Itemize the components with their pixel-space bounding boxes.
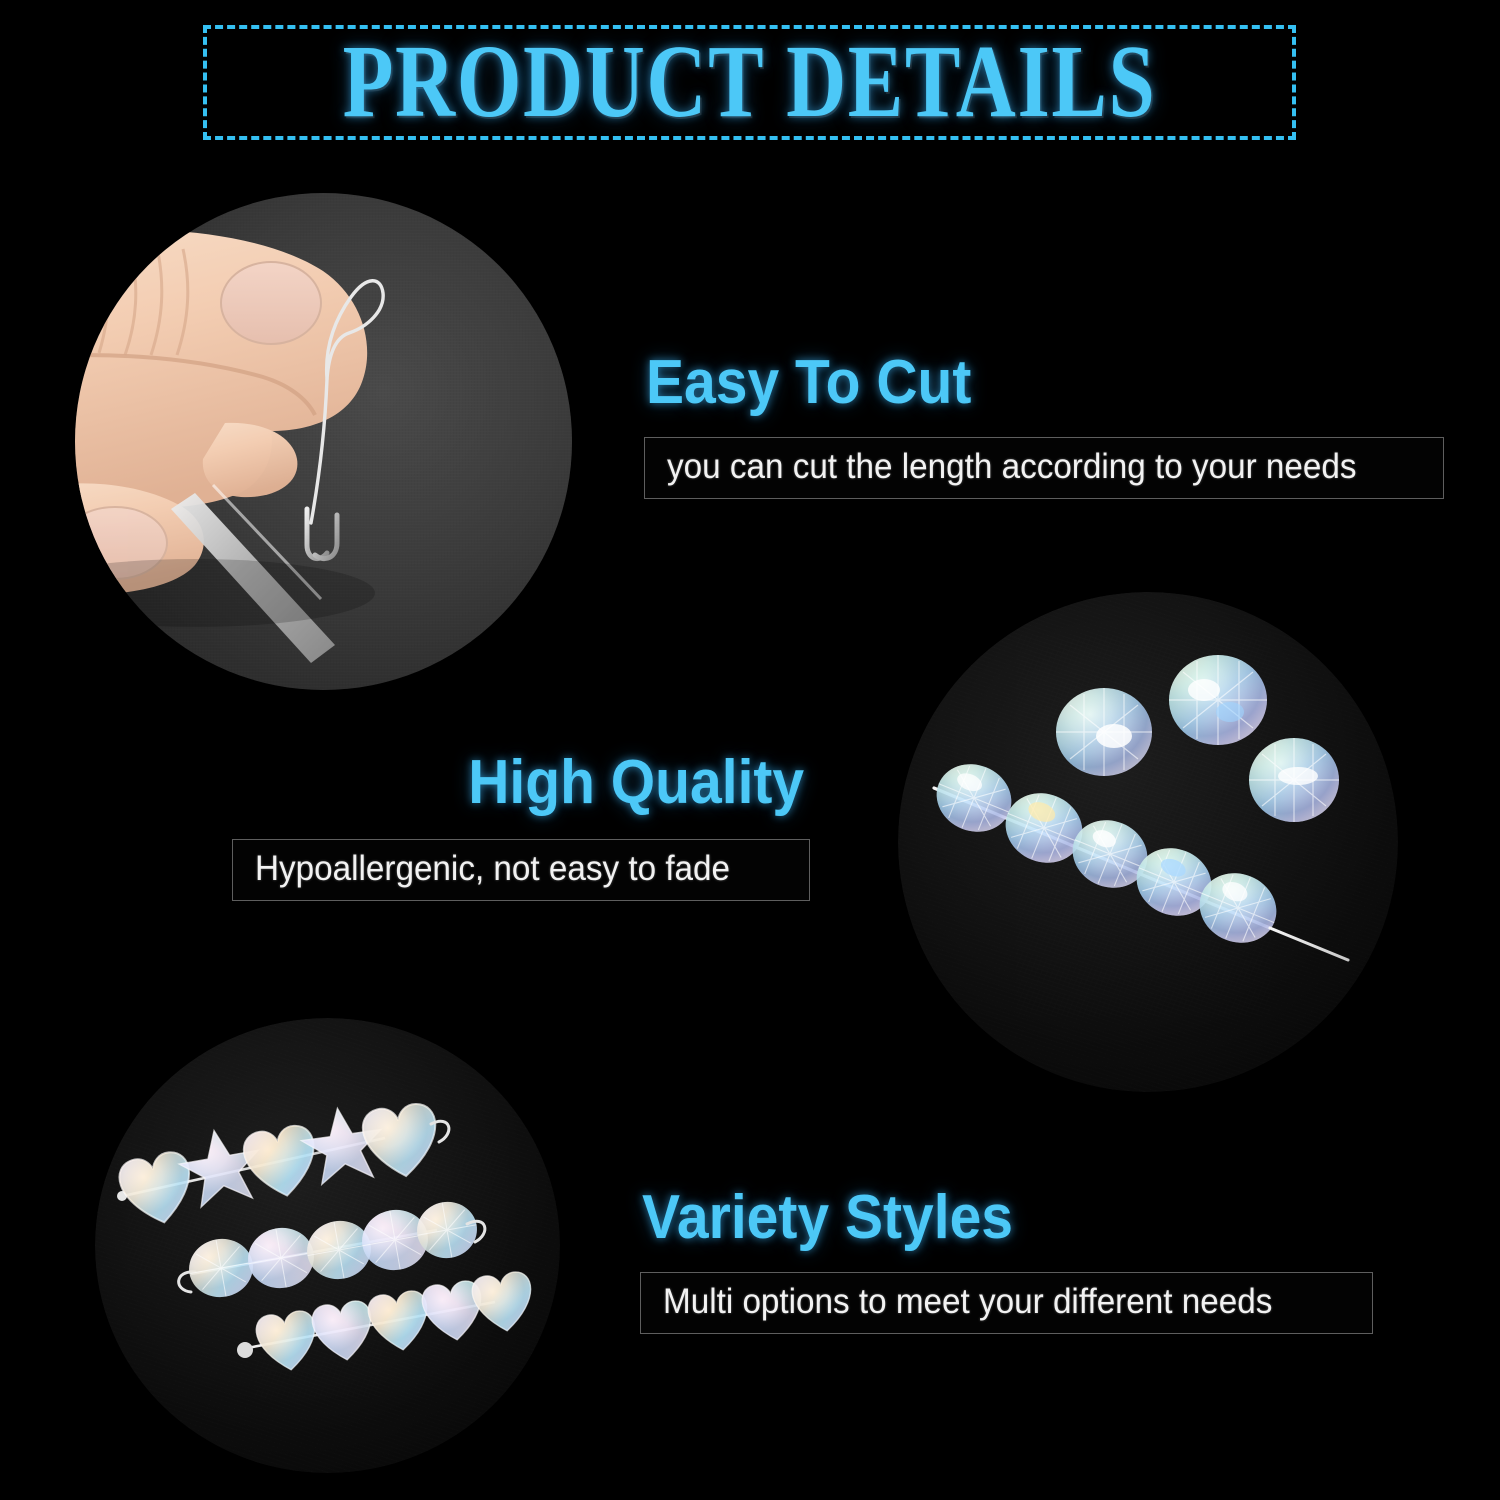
feature-heading-high-quality: High Quality bbox=[468, 750, 804, 815]
photo-high-quality bbox=[898, 592, 1398, 1092]
feature-heading-variety-styles: Variety Styles bbox=[642, 1185, 1315, 1250]
crystal-beads-illustration bbox=[898, 592, 1398, 1092]
variety-beads-illustration bbox=[95, 1018, 560, 1473]
threader-illustration bbox=[75, 193, 572, 690]
feature-subtitle-high-quality: Hypoallergenic, not easy to fade bbox=[255, 849, 760, 889]
feature-subtitle-box-variety-styles: Multi options to meet your different nee… bbox=[640, 1272, 1373, 1334]
feature-subtitle-variety-styles: Multi options to meet your different nee… bbox=[663, 1282, 1316, 1322]
feature-subtitle-box-easy-to-cut: you can cut the length according to your… bbox=[644, 437, 1444, 499]
feature-high-quality: High Quality Hypoallergenic, not easy to… bbox=[230, 750, 810, 901]
feature-easy-to-cut: Easy To Cut you can cut the length accor… bbox=[644, 350, 1444, 499]
feature-subtitle-easy-to-cut: you can cut the length according to your… bbox=[667, 447, 1383, 487]
page-title: PRODUCT DETAILS bbox=[312, 22, 1186, 140]
feature-heading-easy-to-cut: Easy To Cut bbox=[646, 350, 1380, 415]
infographic-canvas: PRODUCT DETAILS bbox=[0, 0, 1500, 1500]
feature-variety-styles: Variety Styles Multi options to meet you… bbox=[640, 1185, 1373, 1334]
photo-variety-styles bbox=[95, 1018, 560, 1473]
feature-subtitle-box-high-quality: Hypoallergenic, not easy to fade bbox=[232, 839, 810, 901]
photo-easy-to-cut bbox=[75, 193, 572, 690]
